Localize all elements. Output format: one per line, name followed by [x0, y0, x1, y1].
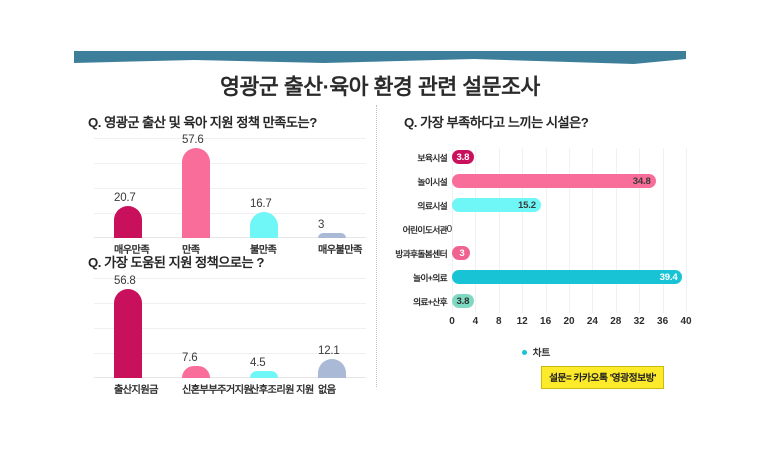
- x-tick: 0: [449, 316, 455, 327]
- legend-label: 차트: [533, 348, 550, 359]
- x-tick: 36: [657, 316, 668, 327]
- bar: 7.6 신혼부부주거지원: [182, 366, 210, 378]
- chart-lacking-facility: 보육시설 3.8 놀이시설 34.8 의료시설 15.2: [386, 148, 686, 328]
- x-tick: 12: [517, 316, 528, 327]
- hbar: 34.8: [452, 174, 656, 188]
- hbar: 3.8: [452, 150, 474, 164]
- hbar: 39.4: [452, 270, 682, 284]
- hbar-value: 3.8: [456, 152, 474, 163]
- hbar-row: 의료+산후 3.8: [386, 292, 686, 310]
- x-axis-ticks: 0 4 8 12 16 20 24 28 32 36 40: [452, 316, 686, 330]
- bar: 20.7 매우만족: [114, 206, 142, 238]
- bar: 57.6 만족: [182, 148, 210, 238]
- hbar-row: 방과후돌봄센터 3: [386, 244, 686, 262]
- bar: 16.7 불만족: [250, 212, 278, 238]
- infographic-page: 영광군 출산·육아 환경 관련 설문조사 Q. 영광군 출산 및 육아 지원 정…: [0, 0, 760, 450]
- chart-helpful-policy: 56.8 출산지원금 7.6 신혼부부주거지원 4.5 산후조리원 지원 12.…: [94, 278, 366, 378]
- bar-label: 출산지원금: [114, 381, 158, 396]
- bar: 56.8 출산지원금: [114, 289, 142, 378]
- hbar-track: 34.8: [452, 172, 686, 190]
- hbar-label: 방과후돌봄센터: [386, 247, 452, 260]
- question-title-helpful-policy: Q. 가장 도움된 지원 정책으로는 ?: [88, 252, 264, 271]
- chart-legend: 차트: [386, 345, 686, 359]
- hbar-label: 의료시설: [386, 199, 452, 212]
- hbar-row: 의료시설 15.2: [386, 196, 686, 214]
- x-tick: 8: [496, 316, 502, 327]
- legend-dot-icon: [522, 350, 527, 355]
- bar-value: 16.7: [250, 198, 272, 210]
- header-banner: [74, 51, 686, 65]
- bar: 3 매우불만족: [318, 233, 346, 238]
- hbar: 3: [452, 246, 470, 260]
- bar-label: 산후조리원 지원: [250, 381, 314, 396]
- bar-value: 20.7: [114, 192, 136, 204]
- question-title-satisfaction: Q. 영광군 출산 및 육아 지원 정책 만족도는?: [88, 112, 317, 131]
- bar-value: 56.8: [114, 275, 136, 287]
- hbar-value: 3.8: [456, 296, 474, 307]
- x-tick: 16: [540, 316, 551, 327]
- hbar-label: 놀이+의료: [386, 271, 452, 284]
- section-divider: [376, 105, 377, 387]
- hbar-row: 어린이도서관 0: [386, 220, 686, 238]
- bar-group: 12.1 없음: [298, 278, 366, 378]
- hbar-track: 15.2: [452, 196, 686, 214]
- question-title-lacking-facility: Q. 가장 부족하다고 느끼는 시설은?: [404, 112, 588, 131]
- hbar-track: 3: [452, 244, 686, 262]
- page-title: 영광군 출산·육아 환경 관련 설문조사: [0, 70, 760, 101]
- bar: 4.5 산후조리원 지원: [250, 371, 278, 378]
- source-note: 설문= 카카오톡 '영광정보방': [541, 366, 664, 389]
- hbar-value: 0: [443, 224, 452, 235]
- bar-value: 7.6: [182, 352, 197, 364]
- x-tick: 20: [563, 316, 574, 327]
- bar-label: 신혼부부주거지원: [182, 381, 252, 396]
- bars-container: 56.8 출산지원금 7.6 신혼부부주거지원 4.5 산후조리원 지원 12.…: [94, 278, 366, 378]
- x-tick: 24: [587, 316, 598, 327]
- bar-value: 4.5: [250, 357, 265, 369]
- bar-value: 12.1: [318, 345, 340, 357]
- hbar-track: 3.8: [452, 148, 686, 166]
- hbar-track: 0: [452, 220, 686, 238]
- hbar-value: 15.2: [518, 200, 541, 211]
- hbar-value: 39.4: [660, 272, 683, 283]
- x-tick: 28: [610, 316, 621, 327]
- hbar-value: 34.8: [633, 176, 656, 187]
- bar: 12.1 없음: [318, 359, 346, 378]
- hbar-label: 보육시설: [386, 151, 452, 164]
- hbar: 3.8: [452, 294, 474, 308]
- bar-group: 3 매우불만족: [298, 138, 366, 238]
- x-tick: 4: [473, 316, 479, 327]
- bar-group: 7.6 신혼부부주거지원: [162, 278, 230, 378]
- chart-satisfaction: 20.7 매우만족 57.6 만족 16.7 불만족 3 매우: [94, 138, 366, 238]
- bar-group: 56.8 출산지원금: [94, 278, 162, 378]
- x-tick: 40: [680, 316, 691, 327]
- bars-container: 20.7 매우만족 57.6 만족 16.7 불만족 3 매우: [94, 138, 366, 238]
- hbar-row: 놀이시설 34.8: [386, 172, 686, 190]
- hbar-label: 의료+산후: [386, 295, 452, 308]
- bar-group: 16.7 불만족: [230, 138, 298, 238]
- bar-group: 57.6 만족: [162, 138, 230, 238]
- bar-group: 4.5 산후조리원 지원: [230, 278, 298, 378]
- bar-value: 57.6: [182, 134, 204, 146]
- hbar-row: 보육시설 3.8: [386, 148, 686, 166]
- hbar-track: 39.4: [452, 268, 686, 286]
- hbar-value: 3: [459, 248, 469, 259]
- hbar-row: 놀이+의료 39.4: [386, 268, 686, 286]
- x-tick: 32: [634, 316, 645, 327]
- bar-label: 없음: [318, 381, 336, 396]
- bar-value: 3: [318, 219, 324, 231]
- hbar: 15.2: [452, 198, 541, 212]
- hbar-track: 3.8: [452, 292, 686, 310]
- banner-band: [74, 51, 686, 65]
- bar-label: 매우불만족: [318, 241, 362, 256]
- bar-group: 20.7 매우만족: [94, 138, 162, 238]
- hbar-label: 놀이시설: [386, 175, 452, 188]
